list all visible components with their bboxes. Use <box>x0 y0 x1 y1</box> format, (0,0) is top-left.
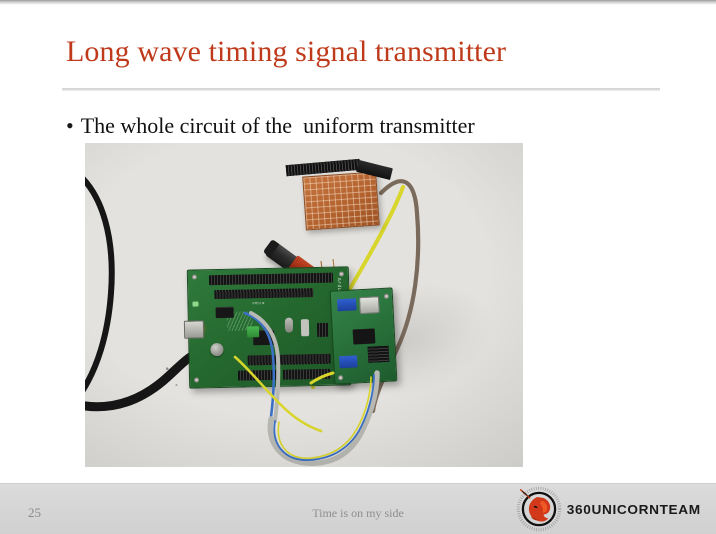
circuit-photograph: Arduino TEST P0STN <box>85 143 523 467</box>
title-divider <box>62 88 660 91</box>
photo-canvas: Arduino TEST P0STN <box>85 143 523 467</box>
photo-vignette <box>85 143 523 467</box>
presentation-slide: Long wave timing signal transmitter • Th… <box>0 0 716 534</box>
bullet-item-label: The whole circuit of the uniform transmi… <box>81 111 475 141</box>
page-title: Long wave timing signal transmitter <box>66 33 666 71</box>
window-top-edge <box>0 0 716 5</box>
brand-logo: 360UNICORNTEAM <box>516 486 698 532</box>
unicorn-head-icon <box>516 486 562 532</box>
brand-name-label: 360UNICORNTEAM <box>567 502 701 517</box>
unicorn-logo-svg <box>516 486 562 532</box>
bullet-marker-icon: • <box>66 111 74 141</box>
footer-divider <box>0 483 716 484</box>
bullet-list-item: • The whole circuit of the uniform trans… <box>66 111 475 141</box>
